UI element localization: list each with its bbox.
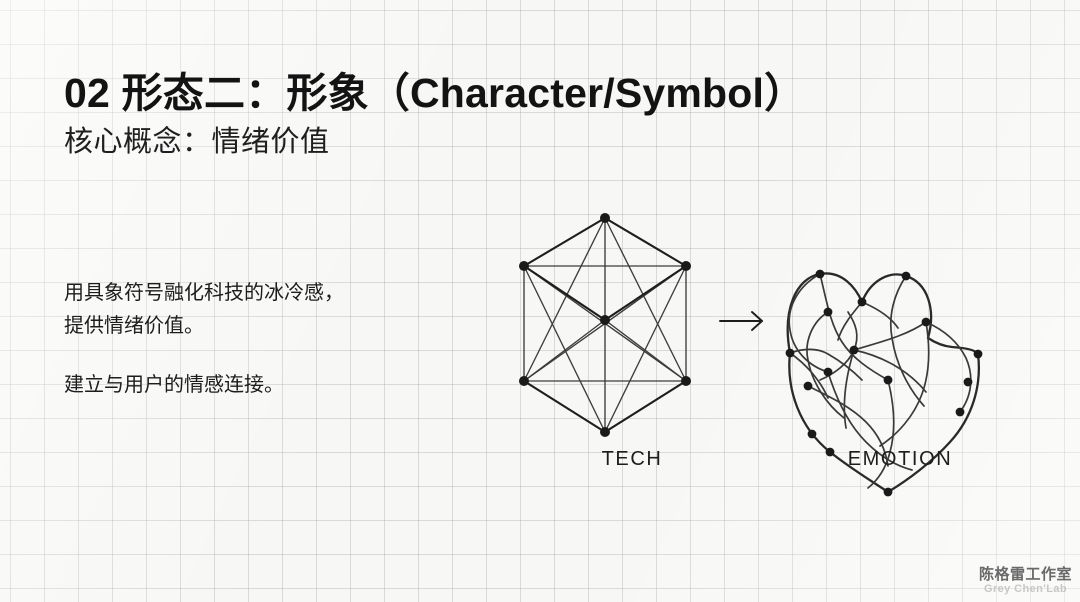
watermark-english: Grey Chen'Lab [979,583,1072,596]
heart-node [884,488,893,497]
watermark: 陈格雷工作室 Grey Chen'Lab [979,566,1072,596]
body-copy: 用具象符号融化科技的冰冷感， 提供情绪价值。 建立与用户的情感连接。 [64,277,344,402]
body-paragraph-1-line-2: 提供情绪价值。 [64,310,344,343]
heart-node [850,346,859,355]
heart-node [902,272,911,281]
body-paragraph-1-line-1: 用具象符号融化科技的冰冷感， [64,277,344,310]
heart-node [974,350,983,359]
heart-node [816,270,825,279]
hexagon-node-bottom [600,427,610,437]
heart-node [922,318,931,327]
hexagon-node-upper-right [681,261,691,271]
hexagon-node-lower-right [681,376,691,386]
page-title: 02 形态二：形象（Character/Symbol） [64,59,805,119]
heart-node [824,368,833,377]
heart-node [956,408,965,417]
heart-node [804,382,813,391]
heart-node [808,430,817,439]
hexagon-node-top [600,213,610,223]
hexagon-node-center [600,315,610,325]
heart-node [824,308,833,317]
page-subtitle: 核心概念：情绪价值 [64,118,330,160]
hexagon-node-upper-left [519,261,529,271]
heart-node [858,298,867,307]
heart-node [964,378,973,387]
hexagon-node-lower-left [519,376,529,386]
diagram-label-tech: TECH [552,448,712,471]
slide-content: 02 形态二：形象（Character/Symbol） 核心概念：情绪价值 用具… [0,0,1080,602]
paragraph-spacer [64,343,344,369]
heart-node [884,376,893,385]
hexagon-network-figure [519,213,691,437]
diagram-label-emotion: EMOTION [790,448,1010,471]
tech-to-emotion-diagram: TECH EMOTION [490,190,1010,500]
arrow-right-icon [720,312,762,330]
heart-node [786,349,795,358]
body-paragraph-2-line-1: 建立与用户的情感连接。 [64,369,344,402]
watermark-chinese: 陈格雷工作室 [979,566,1072,583]
